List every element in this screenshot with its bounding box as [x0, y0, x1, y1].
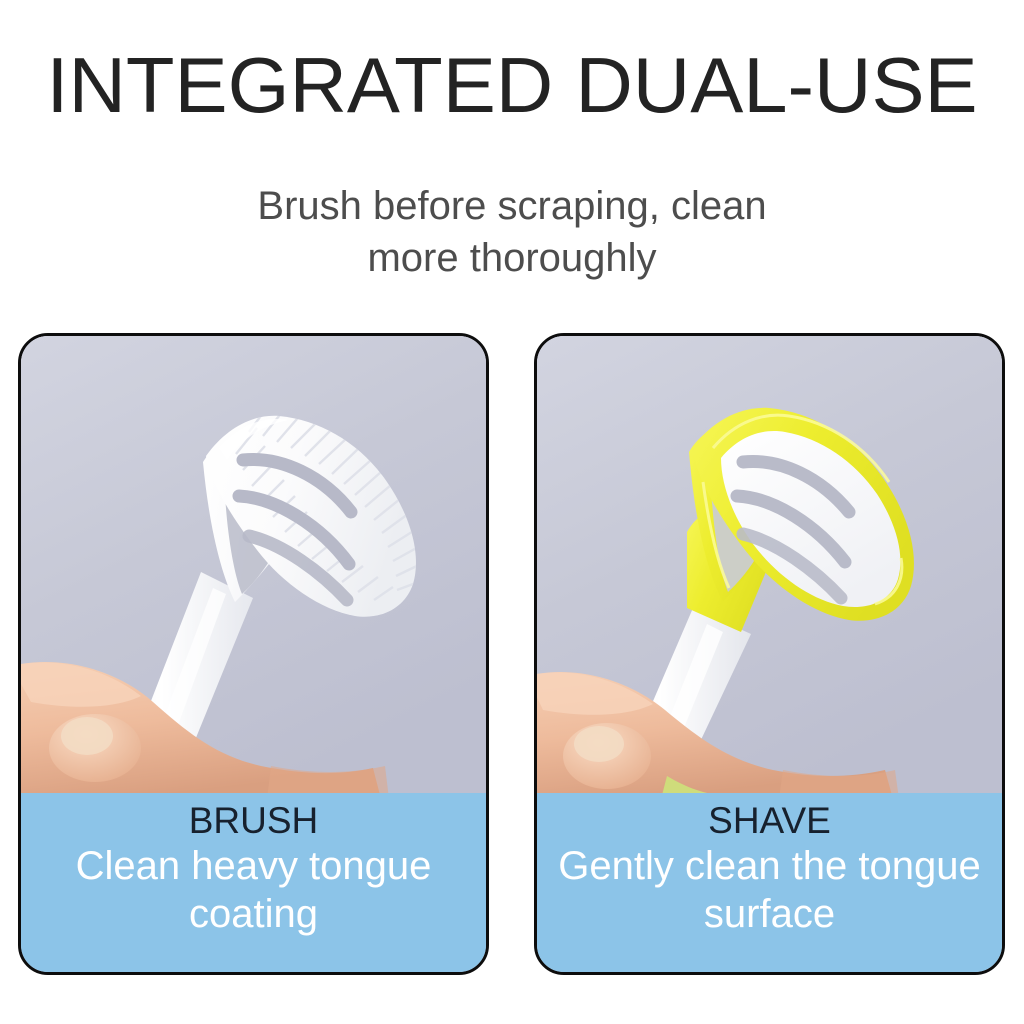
panel-row: BRUSH Clean heavy tongue coating: [0, 333, 1024, 978]
caption-shave: SHAVE Gently clean the tongue surface: [537, 793, 1002, 972]
caption-desc-brush-line1: Clean heavy tongue: [21, 842, 486, 890]
thumbnail: [61, 717, 113, 755]
page-subtitle: Brush before scraping, clean more thorou…: [162, 180, 862, 284]
subtitle-line-1: Brush before scraping, clean: [162, 180, 862, 232]
subtitle-line-2: more thoroughly: [162, 232, 862, 284]
scraper-illustration: [537, 336, 1002, 799]
panel-brush[interactable]: BRUSH Clean heavy tongue coating: [18, 333, 489, 975]
page-title: INTEGRATED DUAL-USE: [0, 44, 1024, 126]
thumbnail: [574, 726, 624, 762]
caption-desc-brush-line2: coating: [21, 890, 486, 938]
caption-title-brush: BRUSH: [21, 800, 486, 842]
infographic-page: INTEGRATED DUAL-USE Brush before scrapin…: [0, 0, 1024, 1024]
caption-brush: BRUSH Clean heavy tongue coating: [21, 793, 486, 972]
panel-shave[interactable]: SHAVE Gently clean the tongue surface: [534, 333, 1005, 975]
product-photo-shave: [537, 336, 1002, 799]
product-photo-brush: [21, 336, 486, 799]
caption-title-shave: SHAVE: [537, 800, 1002, 842]
caption-desc-shave-line2: surface: [537, 890, 1002, 938]
caption-desc-shave-line1: Gently clean the tongue: [537, 842, 1002, 890]
brush-illustration: [21, 336, 486, 799]
